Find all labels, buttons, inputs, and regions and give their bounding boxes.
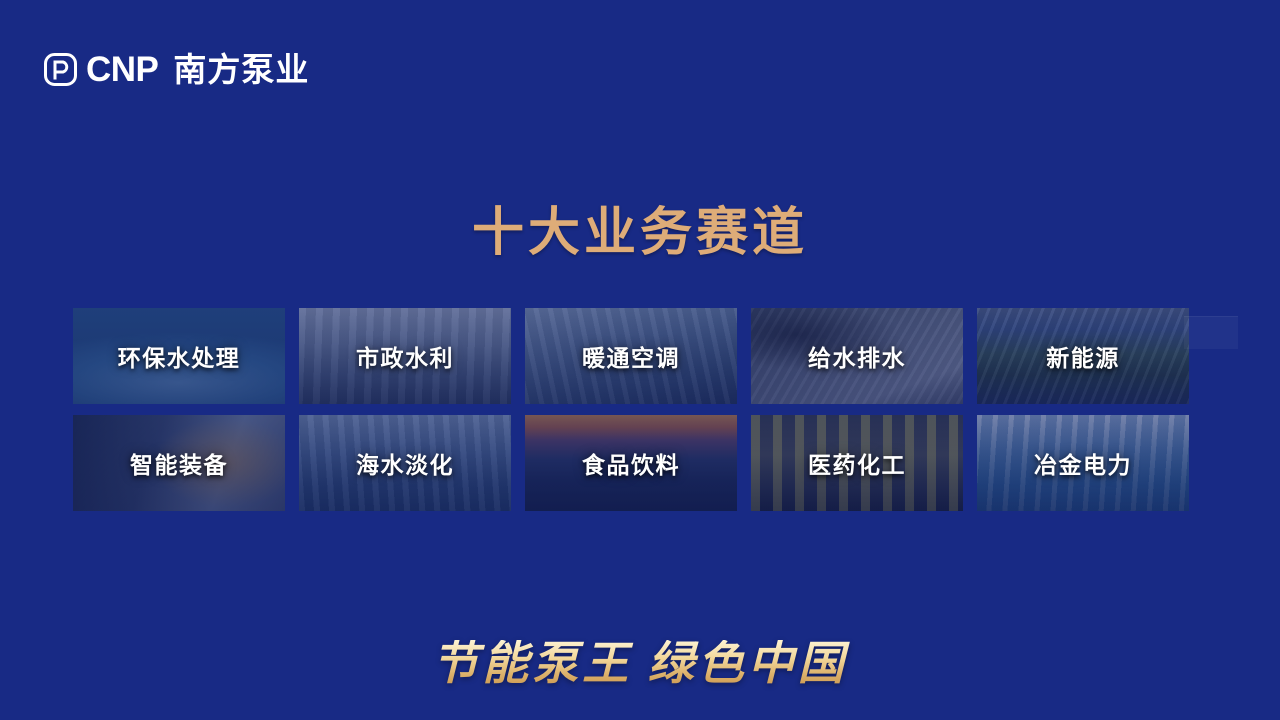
business-card-label: 智能装备 — [130, 446, 228, 480]
business-card-label: 环保水处理 — [118, 339, 241, 373]
cnp-pump-logo-icon — [44, 53, 77, 86]
footer-slogan: 节能泵王 绿色中国 — [0, 640, 1280, 688]
slide-root: CNP 南方泵业 十大业务赛道 环保水处理 市政水利 暖通空调 给水排水 — [0, 0, 1280, 720]
brand-latin-name: CNP — [86, 52, 158, 87]
business-card[interactable]: 食品饮料 — [525, 415, 737, 511]
page-title: 十大业务赛道 — [0, 204, 1280, 264]
business-card[interactable]: 市政水利 — [299, 308, 511, 404]
background-ghost-panel — [1184, 316, 1238, 349]
business-card-label: 冶金电力 — [1034, 446, 1132, 480]
business-card[interactable]: 新能源 — [977, 308, 1189, 404]
business-card-label: 市政水利 — [356, 339, 454, 373]
business-card-label: 暖通空调 — [582, 339, 680, 373]
business-card[interactable]: 给水排水 — [751, 308, 963, 404]
business-card[interactable]: 海水淡化 — [299, 415, 511, 511]
business-card-label: 海水淡化 — [356, 446, 454, 480]
business-card[interactable]: 环保水处理 — [73, 308, 285, 404]
business-card-label: 医药化工 — [808, 446, 906, 480]
brand-chinese-name: 南方泵业 — [173, 53, 309, 86]
business-card[interactable]: 冶金电力 — [977, 415, 1189, 511]
business-card[interactable]: 智能装备 — [73, 415, 285, 511]
brand-logo: CNP 南方泵业 — [44, 52, 309, 87]
business-card-label: 给水排水 — [808, 339, 906, 373]
business-card-label: 食品饮料 — [582, 446, 680, 480]
business-card[interactable]: 暖通空调 — [525, 308, 737, 404]
business-tracks-grid: 环保水处理 市政水利 暖通空调 给水排水 新能源 智能装备 — [73, 308, 1199, 511]
business-card-label: 新能源 — [1046, 339, 1120, 373]
business-card[interactable]: 医药化工 — [751, 415, 963, 511]
